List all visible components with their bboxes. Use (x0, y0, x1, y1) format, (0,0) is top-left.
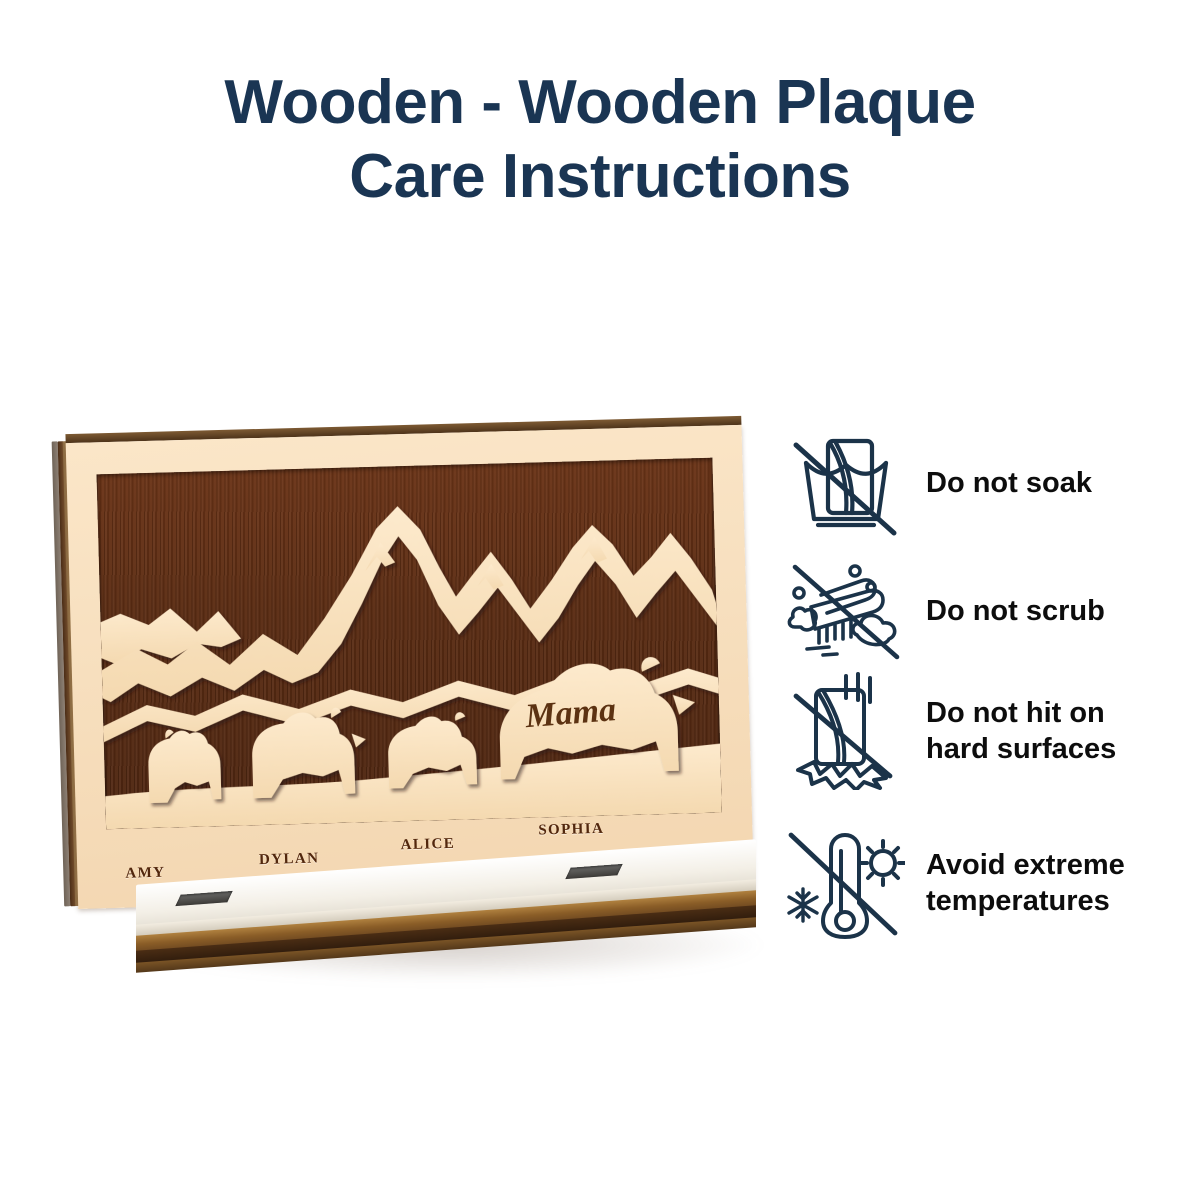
care-label: Do not hit on hard surfaces (910, 695, 1116, 767)
page-title: Wooden - Wooden Plaque Care Instructions (0, 66, 1200, 214)
mountain-bear-scene-svg: Mama (97, 458, 722, 830)
care-label: Avoid extreme temperatures (910, 847, 1125, 919)
care-item-do-not-hit: Do not hit on hard surfaces (780, 672, 1180, 790)
plaque-stand (136, 862, 776, 977)
title-line-2: Care Instructions (0, 140, 1200, 214)
care-label-line-2: hard surfaces (926, 731, 1116, 767)
no-impact-icon (780, 672, 910, 790)
mama-engraving: Mama (523, 691, 617, 735)
no-scrub-icon (780, 552, 910, 670)
title-line-1: Wooden - Wooden Plaque (0, 66, 1200, 140)
no-temperature-icon (780, 824, 910, 942)
care-instructions-page: Wooden - Wooden Plaque Care Instructions (0, 0, 1200, 1200)
engraved-name: SOPHIA (538, 821, 604, 840)
engraved-name: ALICE (400, 836, 455, 854)
product-image: Mama AMY DYLAN ALICE SOPHIA (40, 410, 780, 1030)
care-label-line-1: Avoid extreme (926, 847, 1125, 883)
care-label-line-2: temperatures (926, 883, 1125, 919)
care-label: Do not scrub (910, 593, 1105, 629)
care-label: Do not soak (910, 465, 1092, 501)
care-item-do-not-scrub: Do not scrub (780, 552, 1180, 670)
no-soak-icon (780, 424, 910, 542)
care-label-line-1: Do not hit on (926, 695, 1116, 731)
plaque-scene: Mama (97, 458, 722, 830)
care-item-do-not-soak: Do not soak (780, 424, 1180, 542)
care-item-avoid-temperatures: Avoid extreme temperatures (780, 824, 1180, 942)
